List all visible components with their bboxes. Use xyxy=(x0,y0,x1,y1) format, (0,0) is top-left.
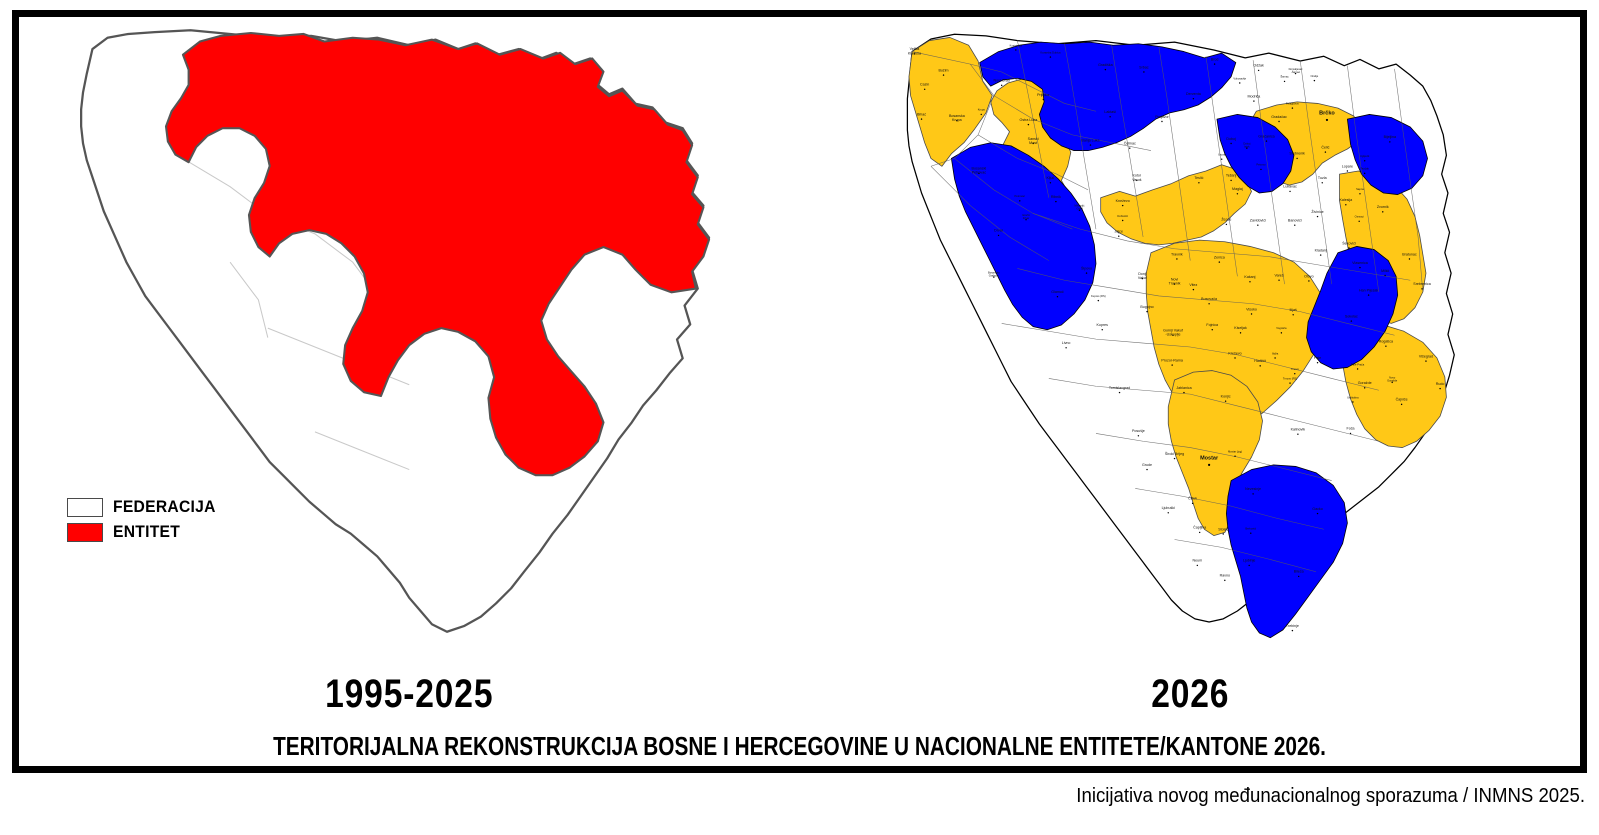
municipality-dot xyxy=(1345,204,1346,205)
municipality-dot xyxy=(1280,332,1281,333)
municipality-dot xyxy=(997,235,998,236)
municipality-dot xyxy=(1173,283,1174,284)
municipality-dot xyxy=(1348,247,1349,248)
municipality-dot xyxy=(1118,392,1119,393)
municipality-dot xyxy=(1296,158,1297,159)
municipality-dot xyxy=(1363,173,1364,174)
legend-label-entitet: ENTITET xyxy=(113,522,180,542)
municipality-dot xyxy=(1319,254,1320,255)
year-label-left: 1995-2025 xyxy=(81,672,737,717)
municipality-dot xyxy=(1283,81,1284,82)
municipality-dot xyxy=(1109,116,1110,117)
municipality-dot xyxy=(1259,365,1260,366)
municipality-dot xyxy=(1294,373,1295,374)
municipality-dot xyxy=(1249,281,1250,282)
municipality-dot xyxy=(1136,180,1137,181)
municipality-dot xyxy=(942,74,943,75)
municipality-dot xyxy=(1439,388,1440,389)
municipality-dot xyxy=(1346,170,1347,171)
municipality-dot xyxy=(1015,49,1016,50)
municipality-dot xyxy=(1246,148,1247,149)
legend-swatch-entitet xyxy=(67,523,103,542)
municipality-dot xyxy=(1222,533,1223,534)
municipality-label: Trebinje xyxy=(1285,624,1298,628)
municipality-dot xyxy=(1278,280,1279,281)
municipality-dot xyxy=(1225,224,1226,225)
municipality-dot xyxy=(1257,225,1258,226)
municipality-dot xyxy=(1042,99,1043,100)
municipality-dot xyxy=(1208,464,1210,466)
legend-entities: FEDERACIJA ENTITET xyxy=(67,497,225,547)
panel-2026: VelikaKladušaBužimCazinBihaćBosanskaKrup… xyxy=(800,17,1581,766)
municipality-dot xyxy=(1313,80,1314,81)
municipality-dot xyxy=(1078,210,1079,211)
municipality-dot xyxy=(1359,193,1360,194)
municipality-dot xyxy=(920,118,921,119)
municipality-dot xyxy=(1265,140,1266,141)
municipality-dot xyxy=(1019,200,1020,201)
municipality-dot xyxy=(1421,288,1422,289)
map-cantons-2026: VelikaKladušaBužimCazinBihaćBosanskaKrup… xyxy=(800,17,1581,677)
legend-swatch-federacija xyxy=(67,498,103,517)
municipality-dot xyxy=(993,276,994,277)
legend-item-federacija: FEDERACIJA xyxy=(67,497,225,517)
municipality-dot xyxy=(1104,69,1105,70)
infographic-page: 1995-2025 FEDERACIJA ENTITET xyxy=(0,0,1599,835)
municipality-dot xyxy=(1358,221,1359,222)
municipality-dot xyxy=(1118,236,1119,237)
municipality-dot xyxy=(1291,107,1292,108)
municipality-dot xyxy=(1389,141,1390,142)
municipality-dot xyxy=(1297,434,1298,435)
municipality-dot xyxy=(1248,565,1249,566)
municipality-dot xyxy=(1236,193,1237,194)
bih-canton-map-svg: VelikaKladušaBužimCazinBihaćBosanskaKrup… xyxy=(800,17,1581,677)
municipality-dot xyxy=(1146,311,1147,312)
municipality-dot xyxy=(1198,532,1199,533)
bih-entity-map-svg xyxy=(19,17,800,677)
year-label-right: 2026 xyxy=(862,672,1518,717)
municipality-dot xyxy=(1316,362,1317,363)
municipality-dot xyxy=(1137,435,1138,436)
map-frame: 1995-2025 FEDERACIJA ENTITET xyxy=(12,10,1587,773)
municipality-dot xyxy=(1316,216,1317,217)
municipality-dot xyxy=(1208,303,1209,304)
municipality-dot xyxy=(1408,258,1409,259)
municipality-dot xyxy=(1220,159,1221,160)
municipality-dot xyxy=(1252,493,1253,494)
municipality-dot xyxy=(1384,275,1385,276)
municipality-dot xyxy=(1425,360,1426,361)
municipality-dot xyxy=(1363,160,1364,161)
municipality-dot xyxy=(1213,63,1214,64)
municipality-dot xyxy=(1176,258,1177,259)
municipality-dot xyxy=(913,53,914,54)
municipality-dot xyxy=(980,114,981,115)
municipality-dot xyxy=(1294,73,1295,74)
municipality-dot xyxy=(1367,294,1368,295)
municipality-dot xyxy=(1274,357,1275,358)
municipality-dot xyxy=(1121,220,1122,221)
municipality-dot xyxy=(978,173,979,174)
municipality-dot xyxy=(1260,169,1261,170)
municipality-dot xyxy=(1289,382,1290,383)
municipality-dot xyxy=(1055,201,1056,202)
municipality-dot xyxy=(1291,630,1292,631)
municipality-dot xyxy=(1230,180,1231,181)
municipality-dot xyxy=(1089,144,1090,145)
municipality-dot xyxy=(1198,182,1199,183)
municipality-dot xyxy=(1183,392,1184,393)
municipality-dot xyxy=(1143,71,1144,72)
municipality-dot xyxy=(1192,289,1193,290)
municipality-dot xyxy=(1250,533,1251,534)
municipality-dot xyxy=(1385,346,1386,347)
source-footer: Inicijativa novog međunacionalnog sporaz… xyxy=(111,785,1585,808)
municipality-dot xyxy=(1382,211,1383,212)
municipality-dot xyxy=(1097,300,1098,301)
municipality-dot xyxy=(1325,119,1327,121)
municipality-dot xyxy=(1356,368,1357,369)
municipality-dot xyxy=(1352,401,1353,402)
municipality-dot xyxy=(1085,272,1086,273)
municipality-dot xyxy=(1359,267,1360,268)
municipality-dot xyxy=(1278,121,1279,122)
municipality-dot xyxy=(1218,261,1219,262)
municipality-dot xyxy=(1324,151,1325,152)
municipality-dot xyxy=(1049,182,1050,183)
municipality-dot xyxy=(1141,278,1142,279)
municipality-dot xyxy=(1171,364,1172,365)
municipality-dot xyxy=(1308,280,1309,281)
municipality-dot xyxy=(1000,85,1001,86)
municipality-dot xyxy=(1191,503,1192,504)
municipality-dot xyxy=(1025,219,1026,220)
municipality-dot xyxy=(1224,401,1225,402)
municipality-dot xyxy=(1400,404,1401,405)
municipality-dot xyxy=(1292,314,1293,315)
municipality-dot xyxy=(1230,143,1231,144)
municipality-dot xyxy=(1027,124,1028,125)
municipality-dot xyxy=(1350,320,1351,321)
panel-1995-2025: 1995-2025 FEDERACIJA ENTITET xyxy=(19,17,800,766)
municipality-dot xyxy=(923,89,924,90)
municipality-dot xyxy=(1391,382,1392,383)
municipality-dot xyxy=(1146,469,1147,470)
municipality-dot xyxy=(1192,98,1193,99)
municipality-dot xyxy=(1294,225,1295,226)
municipality-dot xyxy=(1161,121,1162,122)
municipality-dot xyxy=(1167,512,1168,513)
municipality-dot xyxy=(1172,335,1173,336)
municipality-dot xyxy=(956,120,957,121)
municipality-dot xyxy=(1234,456,1235,457)
municipality-dot xyxy=(1049,56,1050,57)
municipality-dot xyxy=(1257,70,1258,71)
main-caption: TERITORIJALNA REKONSTRUKCIJA BOSNE I HER… xyxy=(175,731,1424,762)
municipality-dot xyxy=(1297,576,1298,577)
municipality-dot xyxy=(1253,100,1254,101)
municipality-dot xyxy=(1234,357,1235,358)
municipality-dot xyxy=(1032,143,1033,144)
legend-item-entitet: ENTITET xyxy=(67,522,225,542)
map-entities-1995 xyxy=(19,17,800,677)
municipality-dot xyxy=(1129,148,1130,149)
municipality-dot xyxy=(1211,329,1212,330)
municipality-dot xyxy=(1173,458,1174,459)
municipality-dot xyxy=(1289,191,1290,192)
municipality-dot xyxy=(1250,313,1251,314)
municipality-dot xyxy=(1239,332,1240,333)
municipality-dot xyxy=(1065,347,1066,348)
municipality-dot xyxy=(1121,205,1122,206)
municipality-dot xyxy=(1363,387,1364,388)
municipality-dot xyxy=(1239,82,1240,83)
municipality-dot xyxy=(1224,580,1225,581)
municipality-dot xyxy=(1101,329,1102,330)
municipality-dot xyxy=(1349,433,1350,434)
legend-label-federacija: FEDERACIJA xyxy=(113,497,216,517)
municipality-dot xyxy=(1196,565,1197,566)
municipality-dot xyxy=(1321,182,1322,183)
municipality-dot xyxy=(1056,296,1057,297)
municipality-dot xyxy=(1316,513,1317,514)
